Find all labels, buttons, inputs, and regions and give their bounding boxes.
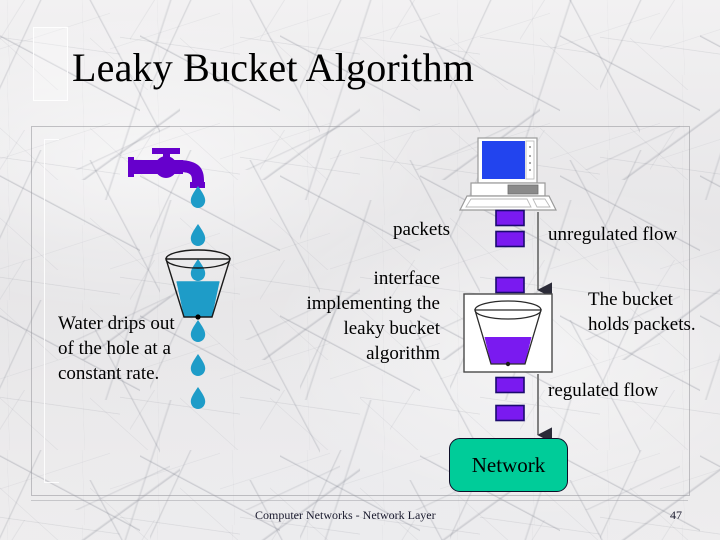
computer-icon (460, 138, 556, 210)
packet-icon (496, 278, 524, 293)
water-drop-icon (191, 186, 205, 208)
water-drop-icon (191, 259, 205, 281)
interface-caption: interface implementing the leaky bucket … (280, 266, 440, 366)
network-node: Network (449, 438, 568, 492)
packet-icon (496, 211, 524, 226)
packets-label: packets (330, 217, 450, 242)
bucket-packets-icon (464, 294, 552, 372)
regulated-flow-label: regulated flow (548, 378, 668, 403)
packet-icon (496, 232, 524, 247)
water-drop-icon (191, 354, 205, 376)
unregulated-flow-label: unregulated flow (548, 222, 688, 247)
bucket-holds-caption: The bucket holds packets. (588, 287, 708, 337)
packet-icon (496, 406, 524, 421)
faucet-icon (128, 148, 205, 188)
network-label: Network (472, 453, 545, 478)
water-drop-icon (191, 320, 205, 342)
page-number: 47 (670, 508, 682, 523)
water-drop-icon (191, 224, 205, 246)
packet-icon (496, 378, 524, 393)
water-drop-icon (191, 387, 205, 409)
slide-canvas: Leaky Bucket Algorithm (0, 0, 720, 540)
footer-text: Computer Networks - Network Layer (255, 508, 436, 523)
water-caption: Water drips out of the hole at a constan… (58, 311, 188, 386)
